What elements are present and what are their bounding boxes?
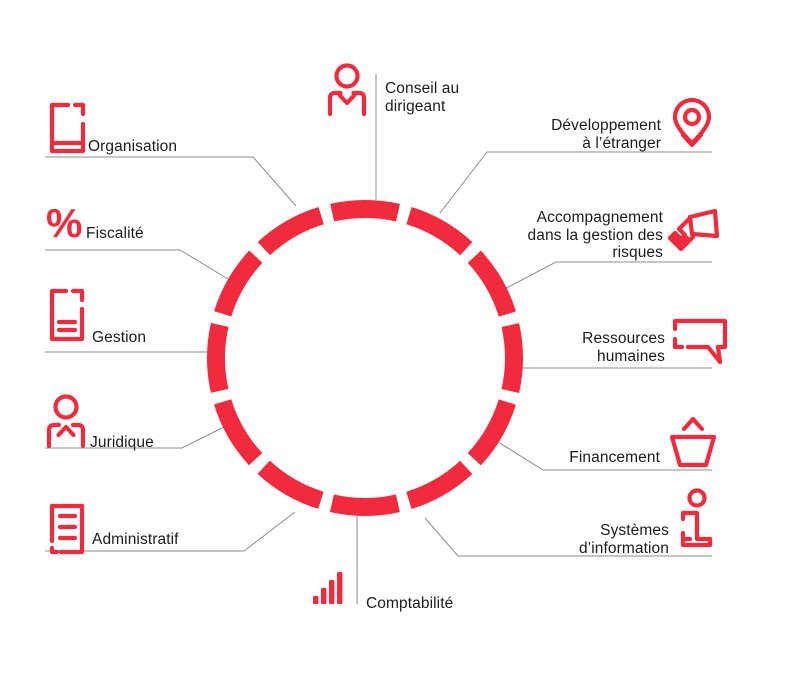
label-juridique: Juridique — [90, 434, 154, 452]
label-systemes-d-information: Systèmes d’information — [579, 522, 669, 557]
label-accompagnement-gestion-des-risques: Accompagnement dans la gestion des risqu… — [528, 209, 663, 262]
label-organisation: Organisation — [88, 138, 177, 156]
map-pin-icon — [668, 98, 716, 152]
speech-bubble-icon — [672, 317, 728, 367]
label-ressources-humaines: Ressources humaines — [582, 330, 665, 365]
bar-chart-icon — [311, 570, 347, 606]
page-fold-icon — [46, 288, 88, 342]
connector-accompagnement — [497, 262, 712, 293]
percent-icon: % — [46, 202, 90, 244]
connector-organisation — [45, 157, 296, 206]
label-gestion: Gestion — [92, 329, 146, 347]
person-shield-icon — [44, 393, 88, 449]
label-fiscalite: Fiscalité — [86, 225, 144, 243]
info-icon — [676, 487, 718, 549]
megaphone-icon — [666, 203, 722, 259]
label-financement: Financement — [569, 449, 660, 467]
book-icon — [46, 102, 88, 154]
label-conseil-au-dirigeant: Conseil au dirigeant — [385, 80, 459, 115]
label-comptabilite: Comptabilité — [366, 595, 453, 613]
basket-arrow-up-icon — [668, 415, 718, 471]
infographic-canvas: % — [0, 0, 792, 677]
person-heart-icon — [326, 62, 368, 116]
connector-fiscalite — [45, 250, 238, 285]
label-developpement-a-l-etranger: Développement à l’étranger — [551, 117, 661, 152]
svg-text:%: % — [46, 202, 82, 244]
document-lines-icon — [46, 503, 88, 555]
segmented-ring — [216, 209, 514, 507]
label-administratif: Administratif — [92, 531, 179, 549]
